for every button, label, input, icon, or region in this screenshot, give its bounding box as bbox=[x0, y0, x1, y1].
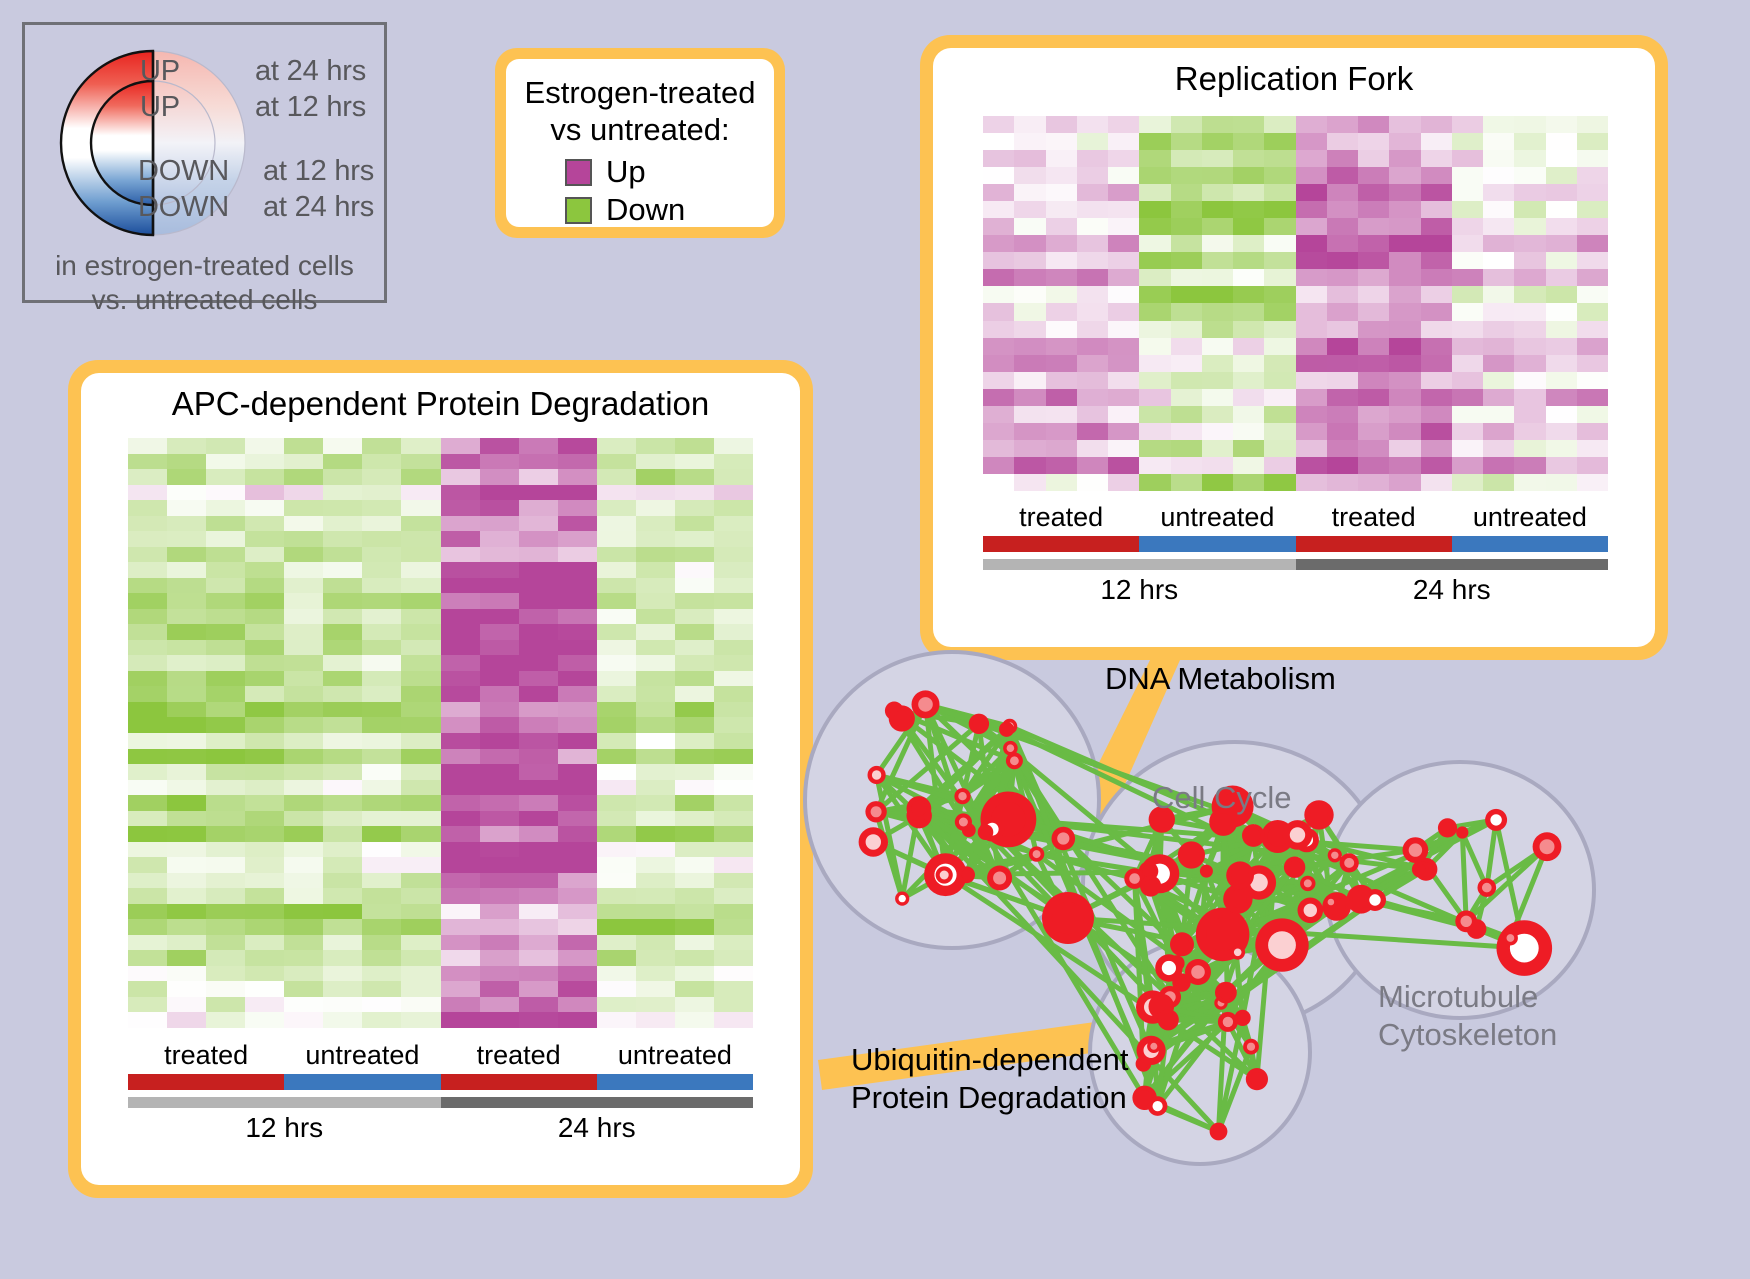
group-bar-apc-treated-24 bbox=[441, 1074, 597, 1090]
up-swatch-icon bbox=[565, 159, 592, 186]
time-bar-apc-12 bbox=[128, 1097, 441, 1108]
time-label-apc-24: 24 hrs bbox=[441, 1112, 754, 1144]
group-bar-apc-treated-12 bbox=[128, 1074, 284, 1090]
group-bar-apc-untreated-12 bbox=[284, 1074, 440, 1090]
ring-legend-box: UP at 24 hrs UP at 12 hrs DOWN at 12 hrs… bbox=[22, 22, 387, 303]
group-color-bar-rf bbox=[983, 536, 1608, 552]
panel-replication-fork: Replication Fork treated untreated treat… bbox=[920, 35, 1668, 660]
time-color-bar-apc bbox=[128, 1097, 753, 1108]
estrogen-key-box: Estrogen-treated vs untreated: Up Down bbox=[495, 48, 785, 238]
group-label-row-apc: treated untreated treated untreated bbox=[128, 1041, 753, 1071]
label-cell-cycle: Cell Cycle bbox=[1152, 781, 1292, 816]
group-bar-apc-untreated-24 bbox=[597, 1074, 753, 1090]
ring-dir-3: DOWN bbox=[138, 191, 229, 224]
column-annotation-replication-fork: treated untreated treated untreated 12 h bbox=[983, 503, 1608, 606]
group-color-bar-apc bbox=[128, 1074, 753, 1090]
group-label-rf-1: untreated bbox=[1139, 503, 1295, 533]
ring-dir-2: DOWN bbox=[138, 155, 229, 188]
label-ubiquitin-line1: Ubiquitin-dependent bbox=[851, 1043, 1129, 1078]
group-bar-rf-treated-24 bbox=[1296, 536, 1452, 552]
time-bar-rf-12 bbox=[983, 559, 1296, 570]
group-bar-rf-treated-12 bbox=[983, 536, 1139, 552]
panel-apc-inner: APC-dependent Protein Degradation treate… bbox=[81, 373, 800, 1185]
group-label-apc-3: untreated bbox=[597, 1041, 753, 1071]
key-item-down: Down bbox=[565, 192, 715, 228]
key-label-up: Up bbox=[606, 154, 646, 190]
label-ubiquitin-line2: Protein Degradation bbox=[851, 1081, 1127, 1116]
ring-legend-caption: in estrogen-treated cells vs. untreated … bbox=[25, 249, 384, 317]
heatmap-apc-degradation bbox=[128, 438, 753, 1028]
group-bar-rf-untreated-12 bbox=[1139, 536, 1295, 552]
label-dna-metabolism: DNA Metabolism bbox=[1105, 662, 1336, 697]
ring-dir-1: UP bbox=[140, 91, 180, 124]
ring-caption-line1: in estrogen-treated cells bbox=[25, 249, 384, 283]
group-label-rf-2: treated bbox=[1296, 503, 1452, 533]
time-label-apc-12: 12 hrs bbox=[128, 1112, 441, 1144]
time-bar-apc-24 bbox=[441, 1097, 754, 1108]
panel-apc-degradation: APC-dependent Protein Degradation treate… bbox=[68, 360, 813, 1198]
label-cytoskeleton: Cytoskeleton bbox=[1378, 1018, 1528, 1053]
ring-time-3: at 24 hrs bbox=[263, 191, 374, 224]
key-title-line2: vs untreated: bbox=[506, 112, 774, 149]
time-bar-rf-24 bbox=[1296, 559, 1609, 570]
group-label-rf-0: treated bbox=[983, 503, 1139, 533]
group-label-rf-3: untreated bbox=[1452, 503, 1608, 533]
group-label-apc-0: treated bbox=[128, 1041, 284, 1071]
group-label-row-rf: treated untreated treated untreated bbox=[983, 503, 1608, 533]
ring-time-2: at 12 hrs bbox=[263, 155, 374, 188]
key-label-down: Down bbox=[606, 192, 685, 228]
panel-title-replication-fork: Replication Fork bbox=[933, 48, 1655, 98]
panel-replication-fork-inner: Replication Fork treated untreated treat… bbox=[933, 48, 1655, 647]
column-annotation-apc: treated untreated treated untreated 12 h bbox=[128, 1041, 753, 1144]
key-item-up: Up bbox=[565, 154, 715, 190]
ring-caption-line2: vs. untreated cells bbox=[25, 283, 384, 317]
ring-time-1: at 12 hrs bbox=[255, 91, 366, 124]
protein-interaction-network bbox=[800, 600, 1750, 1279]
estrogen-key-inner: Estrogen-treated vs untreated: Up Down bbox=[506, 59, 774, 227]
heatmap-replication-fork bbox=[983, 116, 1608, 491]
figure-canvas: UP at 24 hrs UP at 12 hrs DOWN at 12 hrs… bbox=[0, 0, 1750, 1279]
label-microtubule: Microtubule bbox=[1378, 980, 1528, 1015]
key-item-list: Up Down bbox=[506, 154, 774, 228]
down-swatch-icon bbox=[565, 197, 592, 224]
key-title-line1: Estrogen-treated bbox=[506, 75, 774, 112]
time-label-row-apc: 12 hrs 24 hrs bbox=[128, 1112, 753, 1144]
group-label-apc-1: untreated bbox=[284, 1041, 440, 1071]
panel-title-apc: APC-dependent Protein Degradation bbox=[81, 373, 800, 423]
group-label-apc-2: treated bbox=[441, 1041, 597, 1071]
ring-dir-0: UP bbox=[140, 55, 180, 88]
time-color-bar-rf bbox=[983, 559, 1608, 570]
ring-time-0: at 24 hrs bbox=[255, 55, 366, 88]
group-bar-rf-untreated-24 bbox=[1452, 536, 1608, 552]
